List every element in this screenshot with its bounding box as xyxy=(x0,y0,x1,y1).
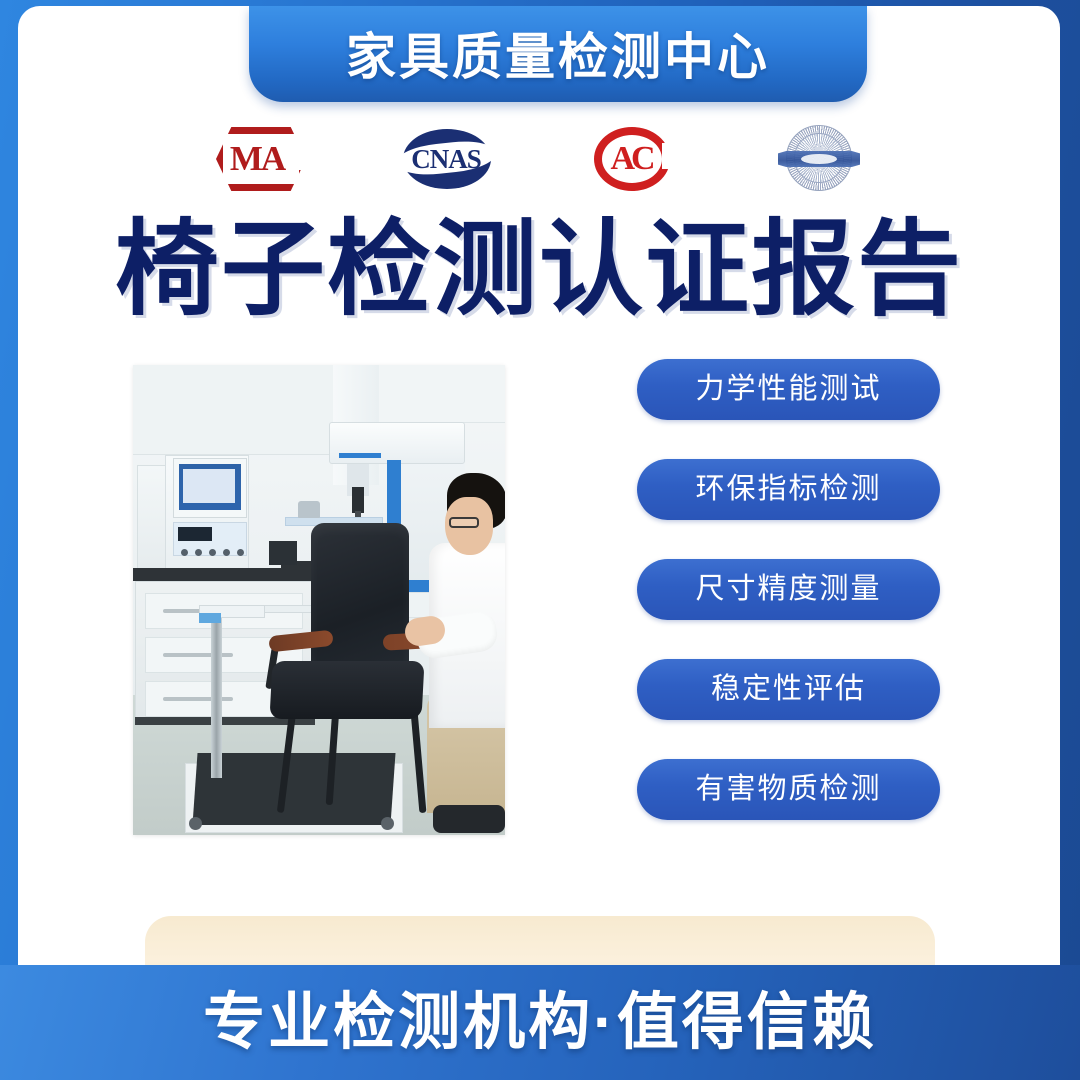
seal-ribbon-band xyxy=(778,151,860,167)
footer-slogan: 专业检测机构·值得信赖 xyxy=(203,992,877,1054)
photo-black-box xyxy=(269,541,297,565)
poster-inner-card: 家具质量检测中心 MA CNAS AC xyxy=(18,6,1060,965)
feature-pill-mechanical-test[interactable]: 力学性能测试 xyxy=(637,359,940,420)
feature-pill-environmental-test[interactable]: 环保指标检测 xyxy=(637,459,940,520)
photo-instrument-side-unit xyxy=(137,465,167,570)
photo-technician-shoe xyxy=(433,805,505,833)
certification-logo-row: MA CNAS AC xyxy=(18,119,1060,199)
feature-pill-label: 稳定性评估 xyxy=(711,675,866,704)
main-title-text: 椅子检测认证报告 xyxy=(115,218,963,322)
photo-measuring-pole xyxy=(211,613,222,778)
photo-machine-strip xyxy=(339,453,381,458)
photo-technician-glasses xyxy=(449,517,479,528)
cma-label: MA xyxy=(208,123,312,195)
feature-pill-label: 有害物质检测 xyxy=(695,775,881,804)
page-title: 椅子检测认证报告 xyxy=(18,206,1060,334)
photo-knob-4 xyxy=(223,549,230,556)
photo-knob-5 xyxy=(237,549,244,556)
poster-root: 家具质量检测中心 MA CNAS AC xyxy=(0,0,1080,1080)
photo-test-platform-mat xyxy=(192,753,395,825)
feature-pill-label: 环保指标检测 xyxy=(695,475,881,504)
photo-knob-2 xyxy=(195,549,202,556)
photo-knob-1 xyxy=(181,549,188,556)
cnas-label: CNAS xyxy=(394,123,498,195)
photo-machine-probe xyxy=(352,487,364,513)
header-banner: 家具质量检测中心 xyxy=(249,6,867,102)
feature-pill-label: 尺寸精度测量 xyxy=(695,575,881,604)
photo-caster-left xyxy=(189,817,202,830)
feature-pill-label: 力学性能测试 xyxy=(695,375,881,404)
cac-label: AC xyxy=(580,123,684,195)
photo-lab-vessel xyxy=(298,501,320,518)
feature-pill-list: 力学性能测试 环保指标检测 尺寸精度测量 稳定性评估 有害物质检测 xyxy=(637,359,959,820)
lab-testing-photo xyxy=(133,365,505,835)
photo-left-bench-top xyxy=(133,568,323,581)
photo-instrument-screen-content xyxy=(183,469,235,503)
footer-banner: 专业检测机构·值得信赖 xyxy=(0,965,1080,1080)
photo-drawer-handle-2 xyxy=(163,653,233,657)
cma-seal-icon: MA xyxy=(208,123,312,195)
photo-chair-seat xyxy=(269,661,424,719)
feature-pill-dimension-test[interactable]: 尺寸精度测量 xyxy=(637,559,940,620)
photo-wall-panel-left xyxy=(133,365,347,455)
cac-seal-icon: AC xyxy=(580,123,684,195)
feature-pill-hazardous-substance-test[interactable]: 有害物质检测 xyxy=(637,759,940,820)
photo-drawer-handle-3 xyxy=(163,697,233,701)
feature-pill-stability-test[interactable]: 稳定性评估 xyxy=(637,659,940,720)
photo-knob-3 xyxy=(209,549,216,556)
inspection-seal-icon xyxy=(766,123,870,195)
photo-caster-right xyxy=(381,817,394,830)
photo-chair-backrest xyxy=(311,523,409,673)
photo-instrument-lcd xyxy=(178,527,212,541)
photo-measuring-head-blue xyxy=(199,613,221,623)
cnas-seal-icon: CNAS xyxy=(394,123,498,195)
header-title: 家具质量检测中心 xyxy=(346,26,770,82)
